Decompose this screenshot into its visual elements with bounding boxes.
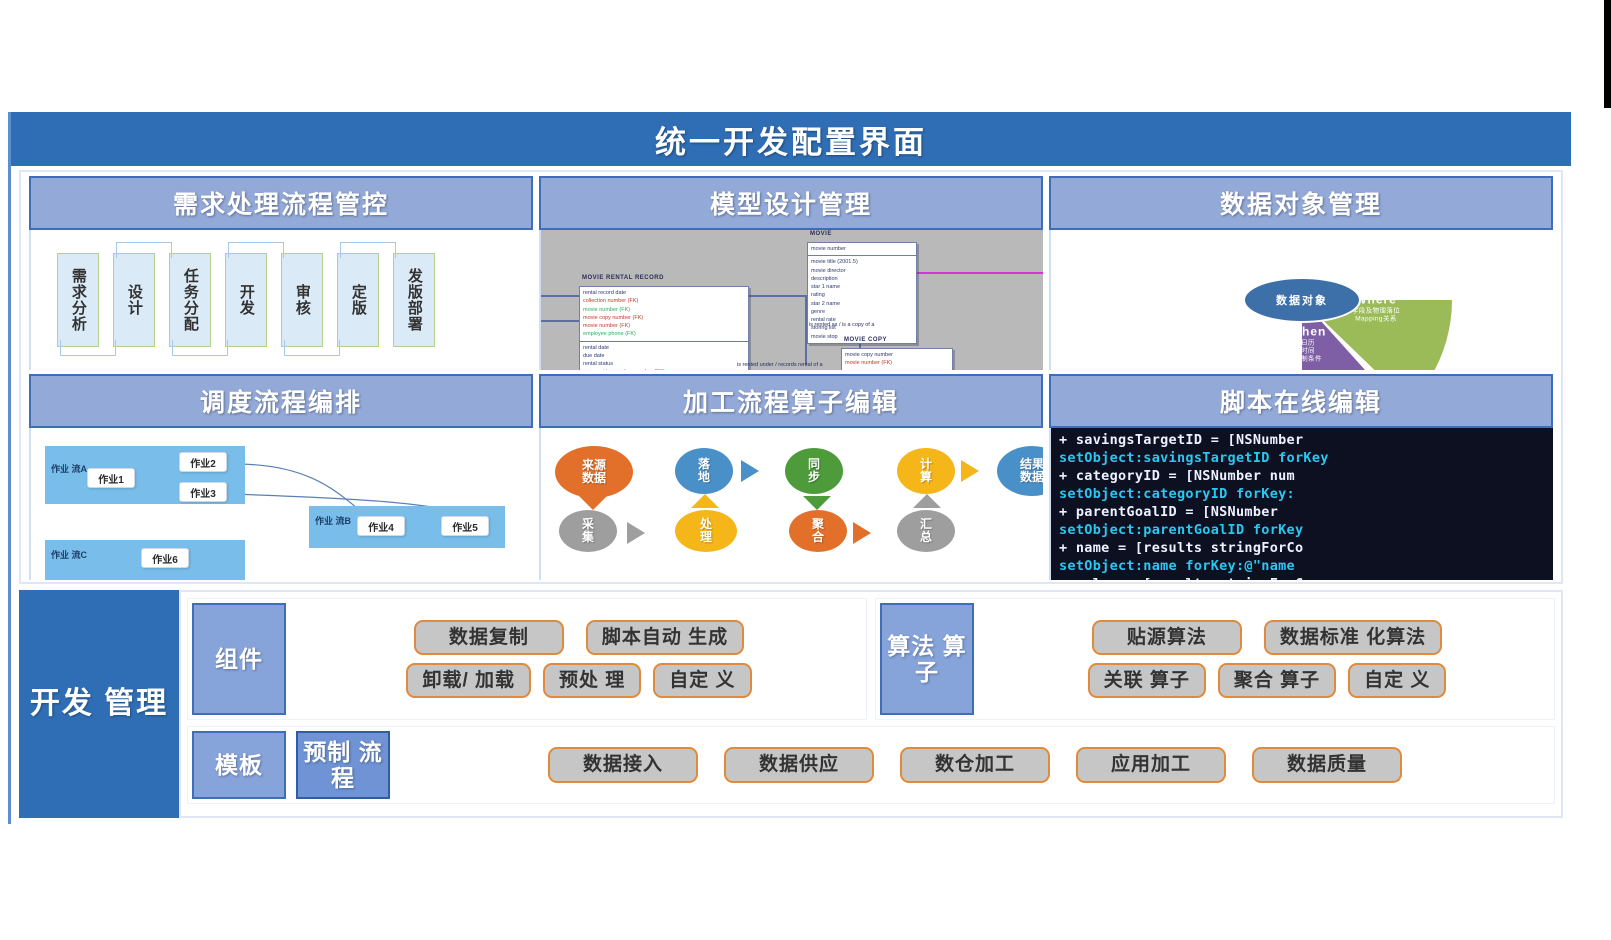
category-algorithm-operators[interactable]: 算法 算子	[880, 603, 974, 715]
operator-node-top[interactable]: 结果数据	[997, 446, 1043, 496]
page-title: 统一开发配置界面	[655, 117, 927, 162]
requirement-step[interactable]: 定版	[337, 253, 379, 347]
pie-segment-name: How	[1333, 230, 1395, 235]
er-connector	[747, 295, 807, 297]
operator-label-line2: 数据	[582, 472, 606, 485]
operator-label-line2: 算	[920, 471, 932, 484]
row1-bodies: 需求分析设计任务分配开发审核定版发版部署 MOVIE RENTAL REC	[29, 230, 1553, 370]
requirement-step-connector	[340, 242, 396, 258]
panel-header-label: 数据对象管理	[1220, 185, 1382, 221]
job-node[interactable]: 作业2	[179, 452, 227, 472]
algorithms-pills: 贴源算法 数据标准 化算法 关联 算子 聚合 算子 自定 义	[984, 603, 1550, 715]
code-line: setObject:name forKey:@"name	[1059, 558, 1553, 576]
operator-node-bottom[interactable]: 汇总	[897, 510, 955, 552]
code-line: setObject:savingsTargetID forKey	[1059, 450, 1553, 468]
requirement-step-connector	[172, 340, 228, 356]
operator-node-bottom[interactable]: 处理	[675, 510, 737, 552]
pie-segment-detail: 数据对象定义信息	[1212, 263, 1267, 271]
operator-label-line2: 总	[920, 531, 932, 544]
development-management-section: 开发 管理 组件 数据复制 脚本自动 生成 卸载/ 加载 预处 理 自定 义	[19, 590, 1563, 818]
operator-label-line2: 理	[700, 531, 712, 544]
operator-label-line2: 数据	[1020, 471, 1043, 484]
operator-flow-diagram: 来源数据落地同步计算结果数据采集处理聚合汇总	[541, 428, 1043, 580]
code-line: setObject:parentGoalID forKey	[1059, 522, 1553, 540]
operator-label-line2: 集	[582, 531, 594, 544]
panel-header-script-editor[interactable]: 脚本在线编辑	[1049, 374, 1553, 428]
category-components[interactable]: 组件	[192, 603, 286, 715]
flow-arrow-icon	[913, 494, 941, 508]
pill-script-autogen[interactable]: 脚本自动 生成	[586, 620, 744, 655]
requirement-step[interactable]: 开发	[225, 253, 267, 347]
flow-arrow-icon	[853, 522, 871, 544]
panel-header-label: 加工流程算子编辑	[683, 383, 899, 419]
requirement-step-connector	[116, 242, 172, 258]
panel-header-label: 脚本在线编辑	[1220, 383, 1382, 419]
category-preset-flow[interactable]: 预制 流程	[296, 731, 390, 799]
job-node[interactable]: 作业6	[141, 548, 189, 568]
panel-header-label: 调度流程编排	[200, 383, 362, 419]
er-entity-pk-block: movie number	[808, 243, 916, 256]
dev-management-content: 组件 数据复制 脚本自动 生成 卸载/ 加载 预处 理 自定 义	[179, 590, 1563, 818]
components-block: 组件 数据复制 脚本自动 生成 卸载/ 加载 预处 理 自定 义	[187, 598, 867, 720]
operator-node-bottom[interactable]: 采集	[559, 510, 617, 552]
row1-headers: 需求处理流程管控 模型设计管理 数据对象管理	[29, 176, 1553, 230]
operator-label-line2: 合	[812, 531, 824, 544]
algorithms-block: 算法 算子 贴源算法 数据标准 化算法 关联 算子 聚合 算子 自定 义	[875, 598, 1555, 720]
pill-application-process[interactable]: 应用加工	[1076, 747, 1226, 782]
category-templates[interactable]: 模板	[192, 731, 286, 799]
operator-label-line2: 地	[698, 471, 710, 484]
operator-node-top[interactable]: 来源数据	[555, 446, 633, 498]
requirement-step[interactable]: 需求分析	[57, 253, 99, 347]
er-entity-attr-block: rental date due date rental status payme…	[580, 342, 748, 371]
code-line: + categoryID = [NSNumber num	[1059, 468, 1553, 486]
requirement-step-connector	[284, 340, 340, 356]
job-flow-diagram: 作业 流A 作业1 作业2 作业3 作业 流B 作业4 作业5 作业 流C 作业…	[31, 428, 533, 580]
operator-edit-panel: 来源数据落地同步计算结果数据采集处理聚合汇总	[539, 428, 1043, 580]
er-relationship-label: is rented under / records rental of a	[737, 362, 823, 370]
operator-node-top[interactable]: 计算	[897, 448, 955, 494]
requirement-flow-panel: 需求分析设计任务分配开发审核定版发版部署	[29, 230, 533, 370]
job-node[interactable]: 作业5	[441, 516, 489, 536]
page-title-bar: 统一开发配置界面	[11, 112, 1571, 166]
pill-data-supply[interactable]: 数据供应	[724, 747, 874, 782]
job-group-a-label: 作业 流A	[51, 464, 87, 475]
right-edge-bar	[1604, 0, 1611, 108]
templates-block: 模板 预制 流程 数据接入 数据供应 数仓加工 应用加工 数据质量	[187, 726, 1555, 804]
flow-arrow-icon	[741, 460, 759, 482]
slide-deck: 统一开发配置界面 需求处理流程管控 模型设计管理 数据对象管理 需求分析设计任务…	[8, 112, 1591, 824]
pie-segment-detail: 处理数据过程及方法 及其 字段mapping信息 数据项之间关系 数据规则 数据…	[1333, 235, 1395, 284]
job-node[interactable]: 作业3	[179, 482, 227, 502]
pill-source-algorithm[interactable]: 贴源算法	[1092, 620, 1242, 655]
er-entity-title: MOVIE	[810, 231, 832, 237]
templates-pills: 数据接入 数据供应 数仓加工 应用加工 数据质量	[400, 731, 1550, 799]
script-editor-panel: + savingsTargetID = [NSNumbersetObject:s…	[1049, 428, 1553, 580]
panel-header-model-design[interactable]: 模型设计管理	[539, 176, 1043, 230]
dev-management-title: 开发 管理	[19, 590, 179, 818]
pill-data-copy[interactable]: 数据复制	[414, 620, 564, 655]
algorithms-pill-row-1: 贴源算法 数据标准 化算法	[984, 620, 1550, 655]
pill-warehouse-process[interactable]: 数仓加工	[900, 747, 1050, 782]
templates-pill-row: 数据接入 数据供应 数仓加工 应用加工 数据质量	[400, 747, 1550, 782]
er-connector	[541, 295, 581, 297]
panel-header-label: 需求处理流程管控	[173, 185, 389, 221]
requirement-step[interactable]: 审核	[281, 253, 323, 347]
row2-headers: 调度流程编排 加工流程算子编辑 脚本在线编辑	[29, 374, 1553, 428]
components-pill-row-2: 卸载/ 加载 预处 理 自定 义	[296, 663, 862, 698]
code-line: + parentGoalID = [NSNumber	[1059, 504, 1553, 522]
algorithms-pill-row-2: 关联 算子 聚合 算子 自定 义	[984, 663, 1550, 698]
pie-center-label: 数据对象	[1243, 277, 1361, 323]
operator-label-line2: 步	[808, 471, 820, 484]
pill-join-operator[interactable]: 关联 算子	[1088, 663, 1206, 698]
pill-preprocess[interactable]: 预处 理	[543, 663, 641, 698]
pie-segment-name: Who	[1212, 248, 1267, 263]
model-design-panel: MOVIE RENTAL RECORD rental record date c…	[539, 230, 1043, 370]
code-line: setObject:categoryID forKey:	[1059, 486, 1553, 504]
er-relationship-label: is rented as / is a copy of a	[809, 322, 874, 330]
components-pills: 数据复制 脚本自动 生成 卸载/ 加载 预处 理 自定 义	[296, 603, 862, 715]
pill-custom-operator[interactable]: 自定 义	[1348, 663, 1446, 698]
pill-data-ingest[interactable]: 数据接入	[548, 747, 698, 782]
panel-header-data-object[interactable]: 数据对象管理	[1049, 176, 1553, 230]
pill-custom[interactable]: 自定 义	[653, 663, 751, 698]
flow-arrow-icon	[627, 522, 645, 544]
dev-row-components-algorithms: 组件 数据复制 脚本自动 生成 卸载/ 加载 预处 理 自定 义	[187, 598, 1555, 720]
panel-header-requirement-flow[interactable]: 需求处理流程管控	[29, 176, 533, 230]
components-pill-row-1: 数据复制 脚本自动 生成	[296, 620, 862, 655]
requirement-step[interactable]: 设计	[113, 253, 155, 347]
pill-data-quality[interactable]: 数据质量	[1252, 747, 1402, 782]
feature-board: 需求处理流程管控 模型设计管理 数据对象管理 需求分析设计任务分配开发审核定版发…	[19, 170, 1563, 584]
code-line: + name = [results stringForCo	[1059, 540, 1553, 558]
panel-header-schedule-flow[interactable]: 调度流程编排	[29, 374, 533, 428]
requirement-step-connector	[60, 340, 116, 356]
operator-node-top[interactable]: 同步	[785, 448, 843, 494]
code-editor[interactable]: + savingsTargetID = [NSNumbersetObject:s…	[1051, 428, 1553, 580]
requirement-step[interactable]: 发版部署	[393, 253, 435, 347]
panel-header-label: 模型设计管理	[710, 185, 872, 221]
code-line: + savingsTargetID = [NSNumber	[1059, 432, 1553, 450]
pill-aggregate-operator[interactable]: 聚合 算子	[1218, 663, 1336, 698]
job-node[interactable]: 作业1	[87, 468, 135, 488]
row2-bodies: 作业 流A 作业1 作业2 作业3 作业 流B 作业4 作业5 作业 流C 作业…	[29, 428, 1553, 580]
pill-unload-load[interactable]: 卸载/ 加载	[406, 663, 531, 698]
data-object-pie-chart: 数据对象 Who数据对象定义信息How处理数据过程及方法 及其 字段mappin…	[1051, 230, 1553, 370]
pie-segment-name: What	[1207, 278, 1248, 293]
er-entity-title: MOVIE RENTAL RECORD	[582, 275, 664, 281]
er-entity-attr-block: movie title (2001.5) movie director desc…	[808, 256, 916, 343]
code-line: + color = [results stringForC	[1059, 576, 1553, 580]
er-entity-movie-copy: MOVIE COPY movie copy number movie numbe…	[841, 348, 953, 370]
pie-body: 数据对象 Who数据对象定义信息How处理数据过程及方法 及其 字段mappin…	[1152, 230, 1452, 370]
flow-arrow-icon	[579, 496, 607, 510]
operator-node-top[interactable]: 落地	[675, 448, 733, 494]
data-object-panel: 数据对象 Who数据对象定义信息How处理数据过程及方法 及其 字段mappin…	[1049, 230, 1553, 370]
er-diagram: MOVIE RENTAL RECORD rental record date c…	[541, 230, 1043, 370]
schedule-flow-panel: 作业 流A 作业1 作业2 作业3 作业 流B 作业4 作业5 作业 流C 作业…	[29, 428, 533, 580]
requirement-flow-track: 需求分析设计任务分配开发审核定版发版部署	[49, 244, 515, 356]
pill-standardization-algorithm[interactable]: 数据标准 化算法	[1264, 620, 1442, 655]
job-group-c-label: 作业 流C	[51, 550, 87, 561]
pie-segment-label: Who数据对象定义信息	[1212, 248, 1267, 271]
er-entity-title: MOVIE COPY	[844, 337, 887, 343]
er-entity-movie-rental-record: MOVIE RENTAL RECORD rental record date c…	[579, 286, 749, 370]
panel-header-operator-edit[interactable]: 加工流程算子编辑	[539, 374, 1043, 428]
flow-arrow-icon	[803, 496, 831, 510]
er-connector-highlight	[907, 272, 1043, 274]
job-node[interactable]: 作业4	[357, 516, 405, 536]
job-group-b-label: 作业 流B	[315, 516, 351, 527]
er-entity-pk-block: rental record date collection number (FK…	[580, 287, 748, 342]
requirement-step-connector	[228, 242, 284, 258]
flow-arrow-icon	[691, 494, 719, 508]
flow-arrow-icon	[961, 460, 979, 482]
dev-row-templates: 模板 预制 流程 数据接入 数据供应 数仓加工 应用加工 数据质量	[187, 726, 1555, 804]
er-connector	[541, 320, 581, 322]
requirement-flow-diagram: 需求分析设计任务分配开发审核定版发版部署	[31, 230, 533, 370]
requirement-step[interactable]: 任务分配	[169, 253, 211, 347]
operator-node-bottom[interactable]: 聚合	[789, 510, 847, 552]
er-entity-pk-block: movie copy number movie number (FK)	[842, 349, 952, 370]
pie-segment-label: How处理数据过程及方法 及其 字段mapping信息 数据项之间关系 数据规则…	[1333, 230, 1395, 284]
